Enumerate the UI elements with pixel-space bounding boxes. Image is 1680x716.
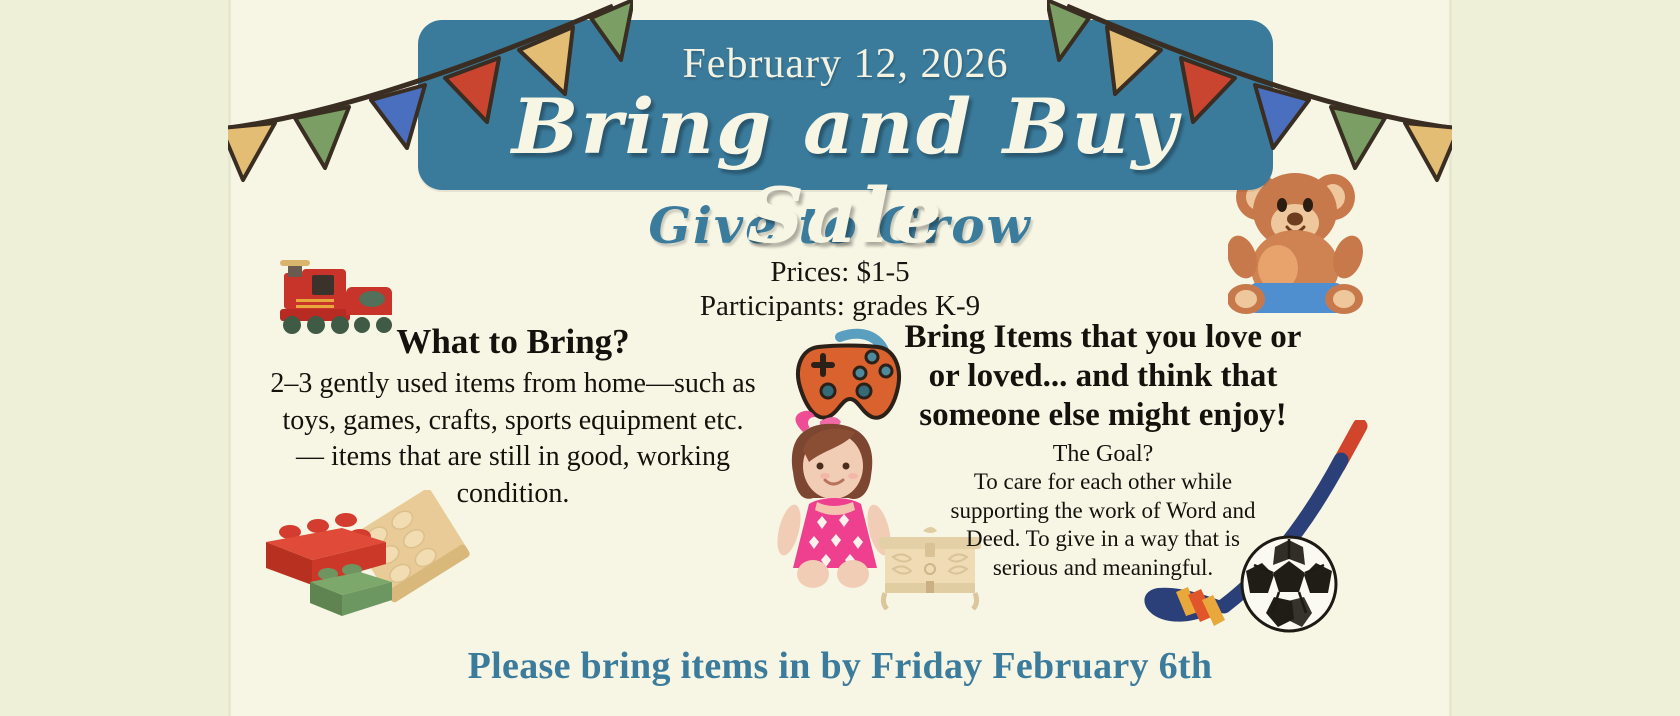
bring-items-head-line-2: or loved... and think that: [888, 357, 1318, 396]
what-to-bring-heading: What to Bring?: [248, 322, 778, 362]
deadline-text: Please bring items in by Friday February…: [228, 644, 1452, 688]
what-to-bring-line-3: — items that are still in good, working: [248, 439, 778, 476]
what-to-bring-block: What to Bring? 2–3 gently used items fro…: [248, 322, 778, 513]
goal-line-1: To care for each other while: [888, 468, 1318, 497]
event-title: Bring and Buy Sale: [401, 82, 1290, 260]
goal-heading: The Goal?: [888, 441, 1318, 468]
what-to-bring-line-1: 2–3 gently used items from home—such as: [248, 366, 778, 403]
what-to-bring-line-2: toys, games, crafts, sports equipment et…: [248, 403, 778, 440]
bring-items-head-line-3: someone else might enjoy!: [888, 396, 1318, 435]
header-banner: February 12, 2026 Bring and Buy Sale: [418, 20, 1273, 190]
bring-items-head-line-1: Bring Items that you love or: [888, 318, 1318, 357]
prices-line: Prices: $1-5: [228, 255, 1452, 289]
poster-canvas: February 12, 2026 Bring and Buy Sale Giv…: [228, 0, 1452, 716]
event-date: February 12, 2026: [418, 40, 1273, 88]
event-meta: Prices: $1-5 Participants: grades K-9: [228, 255, 1452, 323]
poster-stage: February 12, 2026 Bring and Buy Sale Giv…: [0, 0, 1680, 716]
poster-left-edge: [228, 0, 231, 716]
what-to-bring-line-4: condition.: [248, 476, 778, 513]
poster-right-edge: [1449, 0, 1452, 716]
goal-line-2: supporting the work of Word and: [888, 497, 1318, 526]
soccer-ball-icon: [1240, 535, 1338, 633]
